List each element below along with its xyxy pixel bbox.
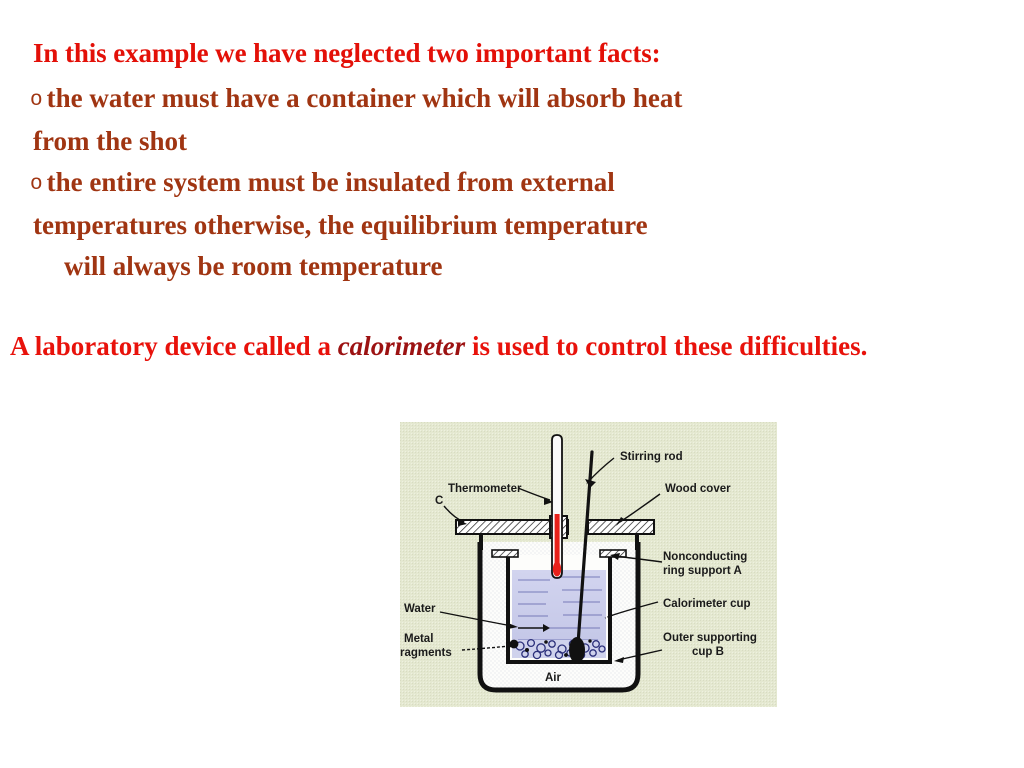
label-water: Water [404, 603, 436, 615]
bullet-list: othe water must have a container which w… [30, 78, 990, 287]
label-cover-marker: C [435, 495, 443, 507]
bullet-item-2-line-1: othe entire system must be insulated fro… [30, 162, 990, 205]
label-stirring-rod: Stirring rod [620, 451, 683, 463]
calorimeter-paragraph: A laboratory device called a calorimeter… [10, 328, 1010, 364]
calorimeter-diagram-image: Thermometer C Stirring rod Wood cover No… [400, 422, 777, 707]
paragraph-emphasis-calorimeter: calorimeter [338, 331, 465, 361]
label-metal-fragments-line2: ragments [400, 647, 452, 659]
bullet-circle-icon: o [30, 89, 47, 112]
metal-fragments-group [510, 639, 606, 658]
label-air: Air [545, 672, 562, 684]
paragraph-text-after: is used to control these difficulties. [465, 331, 867, 361]
label-wood-cover: Wood cover [665, 483, 731, 495]
bullet-item-2-line-2: temperatures otherwise, the equilibrium … [30, 205, 990, 246]
label-thermometer: Thermometer [448, 483, 522, 495]
bullet-item-1-text: the water must have a container which wi… [47, 83, 683, 113]
slide-heading: In this example we have neglected two im… [33, 38, 661, 69]
label-ring-support-line2: ring support A [663, 565, 742, 577]
label-outer-cup-line1: Outer supporting [663, 632, 757, 644]
label-calorimeter-cup: Calorimeter cup [663, 598, 751, 610]
calorimeter-diagram-svg: Thermometer C Stirring rod Wood cover No… [400, 422, 777, 707]
bullet-item-1-line-2: from the shot [30, 121, 990, 162]
ring-support-left [492, 550, 518, 557]
bullet-circle-icon: o [30, 173, 47, 196]
bullet-item-2-text: the entire system must be insulated from… [47, 167, 615, 197]
bullet-item-2-line-3: will always be room temperature [30, 246, 990, 287]
bullet-item-1-line-1: othe water must have a container which w… [30, 78, 990, 121]
thermometer [552, 435, 562, 578]
paragraph-text-before: A laboratory device called a [10, 331, 338, 361]
label-ring-support-line1: Nonconducting [663, 551, 747, 563]
label-metal-fragments-line1: Metal [404, 633, 433, 645]
label-outer-cup-line2: cup B [692, 646, 724, 658]
